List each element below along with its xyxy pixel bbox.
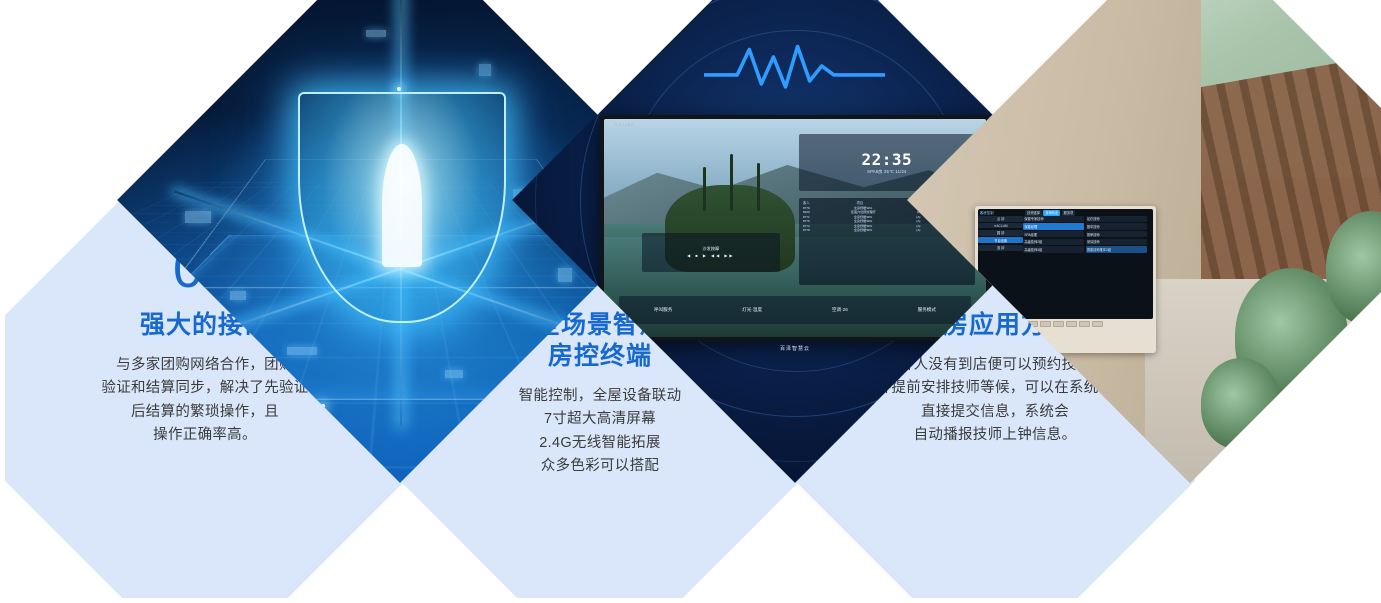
service-list-cell: 8778 <box>803 228 810 232</box>
wall-panel-tab[interactable]: 技师状态 <box>1043 210 1060 216</box>
screen-bottom-button[interactable]: 呼叫服务 <box>654 307 672 313</box>
tablet-device: CS12BD 22:35 SPA6房 25℃ 11/24 客人项目时间状态 87… <box>600 115 991 341</box>
corridor-plant-c <box>1201 358 1280 449</box>
clock-time: 22:35 <box>861 152 912 168</box>
wall-panel-grid-item[interactable]: 足疗技师 <box>1086 216 1147 222</box>
wall-panel-grid-item[interactable]: SPA经理 <box>1023 231 1084 237</box>
wall-panel-grid-item[interactable]: 香薰技师推拿2组 <box>1086 246 1147 252</box>
wall-panel-grid-item[interactable]: 采耳技师 <box>1086 239 1147 245</box>
service-list-cell: 全身舒缓SPA <box>854 228 872 232</box>
service-list-header-cell: 项目 <box>857 200 864 205</box>
clock-subtitle: SPA6房 25℃ 11/24 <box>867 170 906 174</box>
wall-panel-tabs[interactable]: 技师选择技师状态服务项 <box>1025 210 1075 216</box>
wall-panel-grid-item[interactable]: 保健专家技师 <box>1023 216 1084 222</box>
screen-bottom-button[interactable]: 服务模式 <box>918 307 936 313</box>
wall-panel-grid-item[interactable]: 高级技师2组 <box>1023 239 1084 245</box>
screen-bottom-button[interactable]: 空调·26 <box>832 307 848 313</box>
screen-bottom-button[interactable]: 灯光·温度 <box>742 307 762 313</box>
panel-1-description: 与多家团购网络合作，团购验证和结算同步，解决了先验证后结算的繁琐操作，且操作正确… <box>101 354 308 448</box>
tablet-model-label: CS12BD <box>615 122 634 127</box>
screen-bottom-bar: 呼叫服务灯光·温度空调·26服务模式 <box>619 296 971 324</box>
wall-panel-tab[interactable]: 服务项 <box>1062 210 1076 216</box>
wall-panel-side-item[interactable]: 点 钟 <box>978 216 1024 222</box>
tablet-screen: CS12BD 22:35 SPA6房 25℃ 11/24 客人项目时间状态 87… <box>604 119 987 337</box>
wall-panel-title: 客房控制 <box>980 210 994 215</box>
ecg-pulse-icon <box>704 42 885 93</box>
wall-panel-grid-item[interactable]: 按摩技师 <box>1086 231 1147 237</box>
infographic-stage: CS12BD 22:35 SPA6房 25℃ 11/24 客人项目时间状态 87… <box>0 0 1381 603</box>
wall-panel-grid-item[interactable]: 保健经理 <box>1023 223 1084 229</box>
wall-panel-side-item[interactable]: 节目设置 <box>978 237 1024 243</box>
wall-panel-side-item[interactable]: 选 钟 <box>978 245 1024 251</box>
service-list-cell: (A) <box>916 228 920 232</box>
screen-control-widget: 沙发按摩 ◀ ■ ▶ ◀◀ ▶▶ <box>642 233 780 272</box>
wall-panel-grid-item[interactable]: 推拿技师 <box>1086 223 1147 229</box>
wall-panel-side-item[interactable]: ✕ACLUM <box>978 223 1024 228</box>
control-title: 沙发按摩 <box>702 246 719 252</box>
service-list-header-cell: 客人 <box>803 200 810 205</box>
wall-panel-grid[interactable]: 保健专家技师足疗技师保健经理推拿技师SPA经理按摩技师高级技师2组采耳技师高级技… <box>1023 209 1153 319</box>
wall-panel-grid-item[interactable]: 高级技师3组 <box>1023 246 1084 252</box>
panel-2-description: 智能控制，全屋设备联动7寸超大高清屏幕2.4G无线智能拓展众多色彩可以搭配 <box>519 385 682 479</box>
wall-panel-tab[interactable]: 技师选择 <box>1025 210 1042 216</box>
wall-panel-side-item[interactable]: 圆 钟 <box>978 230 1024 236</box>
